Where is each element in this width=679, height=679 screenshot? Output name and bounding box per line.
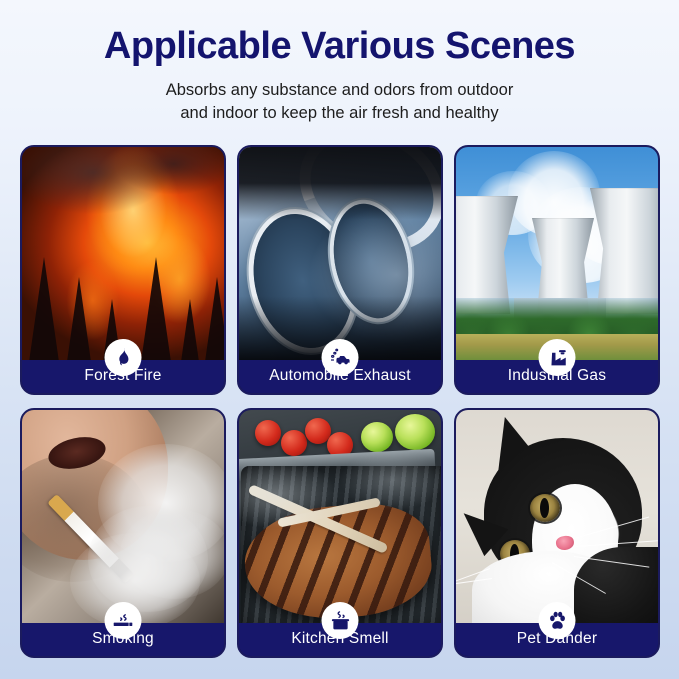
flame-icon bbox=[105, 339, 142, 376]
kitchen-smell-photo bbox=[239, 410, 441, 623]
smoking-photo bbox=[22, 410, 224, 623]
industrial-gas-photo bbox=[456, 147, 658, 360]
car-exhaust-icon bbox=[322, 339, 359, 376]
cooking-pot-icon bbox=[322, 602, 359, 639]
forest-fire-photo bbox=[22, 147, 224, 360]
automobile-exhaust-photo bbox=[239, 147, 441, 360]
scene-card-automobile-exhaust[interactable]: Automobile Exhaust bbox=[237, 145, 443, 395]
cigarette-icon bbox=[105, 602, 142, 639]
page-header: Applicable Various Scenes Absorbs any su… bbox=[0, 0, 679, 126]
paw-print-icon bbox=[539, 602, 576, 639]
scene-card-grid: Forest Fire Automobile Exhaust bbox=[20, 145, 659, 658]
scene-card-pet-dander[interactable]: Pet Dander bbox=[454, 408, 660, 658]
scene-card-industrial-gas[interactable]: Industrial Gas bbox=[454, 145, 660, 395]
page-title: Applicable Various Scenes bbox=[0, 26, 679, 67]
page-subtitle-line-1: Absorbs any substance and odors from out… bbox=[0, 79, 679, 102]
scene-card-forest-fire[interactable]: Forest Fire bbox=[20, 145, 226, 395]
page-subtitle: Absorbs any substance and odors from out… bbox=[0, 79, 679, 126]
page-subtitle-line-2: and indoor to keep the air fresh and hea… bbox=[0, 102, 679, 125]
scene-card-smoking[interactable]: Smoking bbox=[20, 408, 226, 658]
scene-card-kitchen-smell[interactable]: Kitchen Smell bbox=[237, 408, 443, 658]
factory-smokestack-icon bbox=[539, 339, 576, 376]
pet-dander-photo bbox=[456, 410, 658, 623]
